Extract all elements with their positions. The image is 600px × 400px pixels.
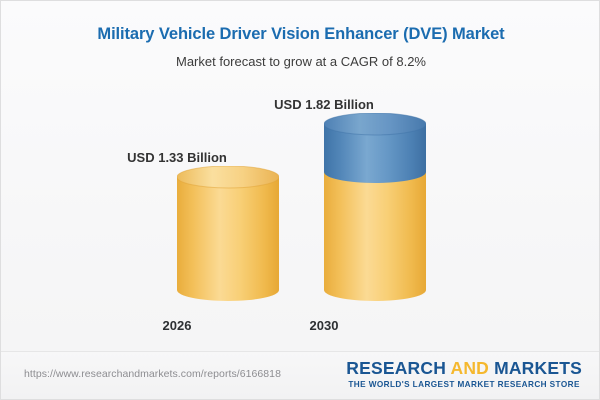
footer-bar: https://www.researchandmarkets.com/repor…	[1, 351, 599, 399]
bar-chart: USD 1.33 Billion	[1, 1, 600, 353]
bar-category-label-2026: 2026	[163, 318, 192, 333]
logo-tagline: THE WORLD'S LARGEST MARKET RESEARCH STOR…	[346, 380, 582, 389]
bar-category-label-2030: 2030	[310, 318, 339, 333]
logo-word-and: AND	[450, 358, 489, 378]
report-url[interactable]: https://www.researchandmarkets.com/repor…	[24, 368, 281, 380]
logo-wordmark: RESEARCH AND MARKETS	[346, 358, 582, 379]
infographic-card: Military Vehicle Driver Vision Enhancer …	[0, 0, 600, 400]
cylinder-2026-shape	[177, 166, 279, 301]
research-and-markets-logo: RESEARCH AND MARKETS THE WORLD'S LARGEST…	[346, 358, 582, 389]
bar-value-label-2026: USD 1.33 Billion	[127, 150, 227, 165]
logo-word-markets: MARKETS	[494, 358, 582, 378]
cylinder-2026	[177, 166, 279, 306]
bar-value-label-2030: USD 1.82 Billion	[274, 97, 374, 112]
logo-word-research: RESEARCH	[346, 358, 446, 378]
cylinder-2030	[324, 113, 426, 306]
cylinder-2030-shape	[324, 113, 426, 301]
